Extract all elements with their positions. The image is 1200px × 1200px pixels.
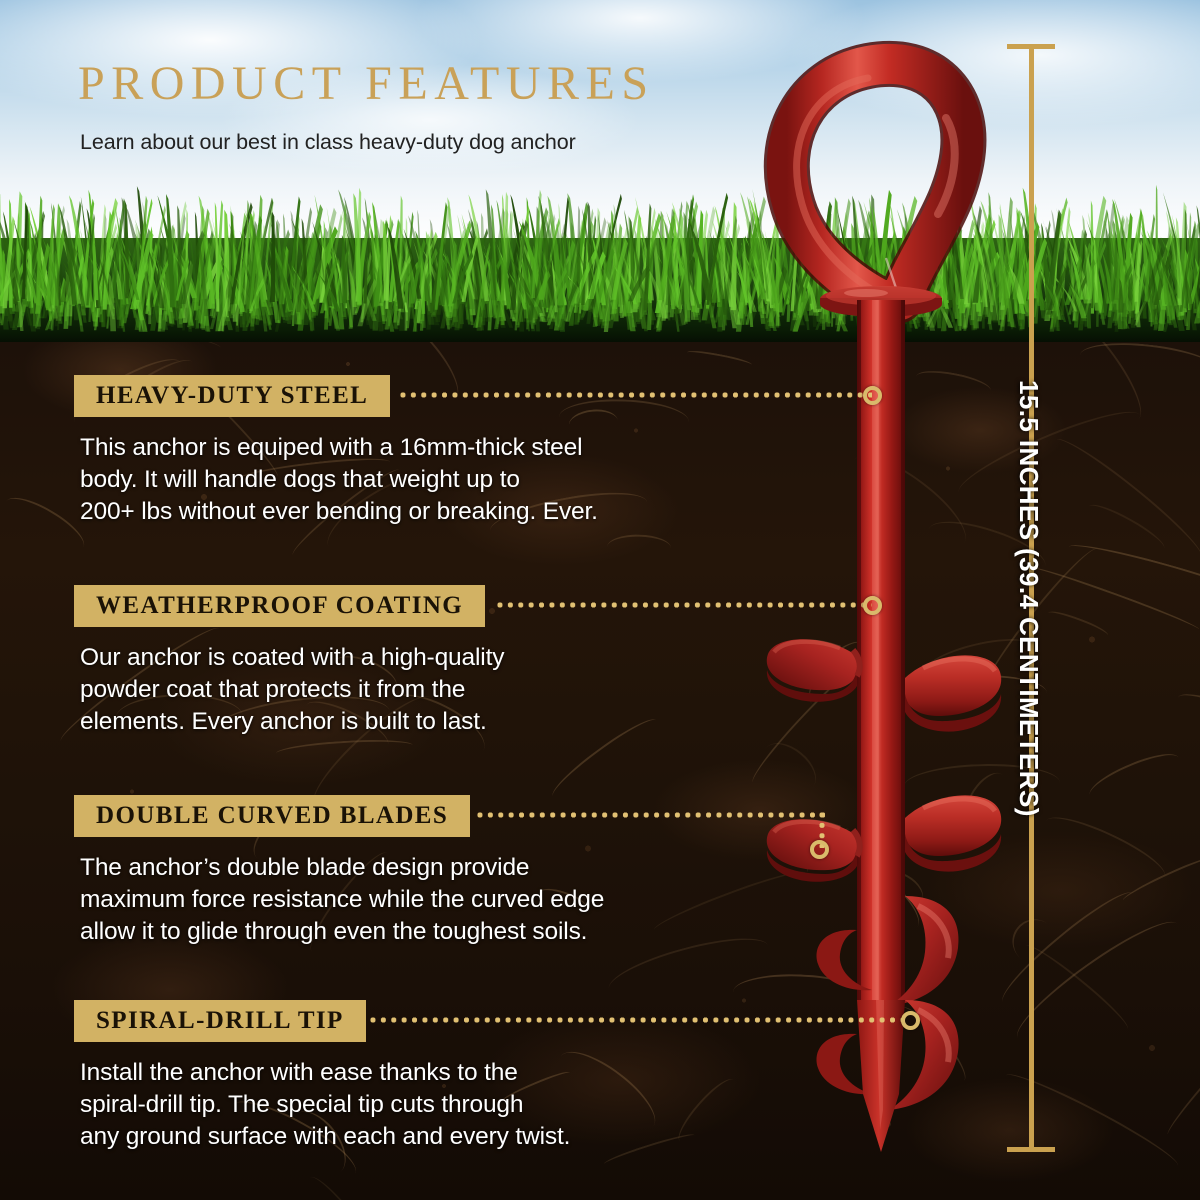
feature-body: Install the anchor with ease thanks to t…	[80, 1057, 570, 1153]
leader-dots	[370, 1017, 905, 1023]
leader-line-heavy-duty-steel	[400, 392, 872, 398]
grass-blades	[0, 182, 1200, 342]
page-title: PRODUCT FEATURES	[78, 56, 655, 111]
leader-ring-double-curved-blades	[810, 840, 829, 859]
leader-dots	[477, 812, 825, 818]
feature-label: DOUBLE CURVED BLADES	[74, 795, 470, 837]
leader-ring-spiral-drill-tip	[901, 1011, 920, 1030]
leader-line-spiral-drill-tip	[370, 1017, 905, 1023]
feature-label: HEAVY-DUTY STEEL	[74, 375, 390, 417]
feature-body: This anchor is equiped with a 16mm-thick…	[80, 432, 598, 528]
feature-body: Our anchor is coated with a high-quality…	[80, 642, 504, 738]
leader-dots	[497, 602, 872, 608]
feature-weatherproof-coating: WEATHERPROOF COATING Our anchor is coate…	[74, 585, 504, 738]
feature-label: WEATHERPROOF COATING	[74, 585, 485, 627]
product-features-infographic: PRODUCT FEATURES Learn about our best in…	[0, 0, 1200, 1200]
page-subtitle: Learn about our best in class heavy-duty…	[80, 130, 576, 155]
measurement-cap-top	[1007, 44, 1055, 49]
measurement-label: 15.5 INCHES (39.4 CENTIMETERS)	[1013, 380, 1044, 817]
leader-ring-heavy-duty-steel	[863, 386, 882, 405]
leader-ring-weatherproof-coating	[863, 596, 882, 615]
feature-body: The anchor’s double blade design provide…	[80, 852, 604, 948]
measurement-cap-bottom	[1007, 1147, 1055, 1152]
leader-line-double-curved-blades	[477, 812, 825, 818]
leader-dots	[400, 392, 872, 398]
grass-layer	[0, 182, 1200, 342]
feature-label: SPIRAL-DRILL TIP	[74, 1000, 366, 1042]
leader-line-weatherproof-coating	[497, 602, 872, 608]
